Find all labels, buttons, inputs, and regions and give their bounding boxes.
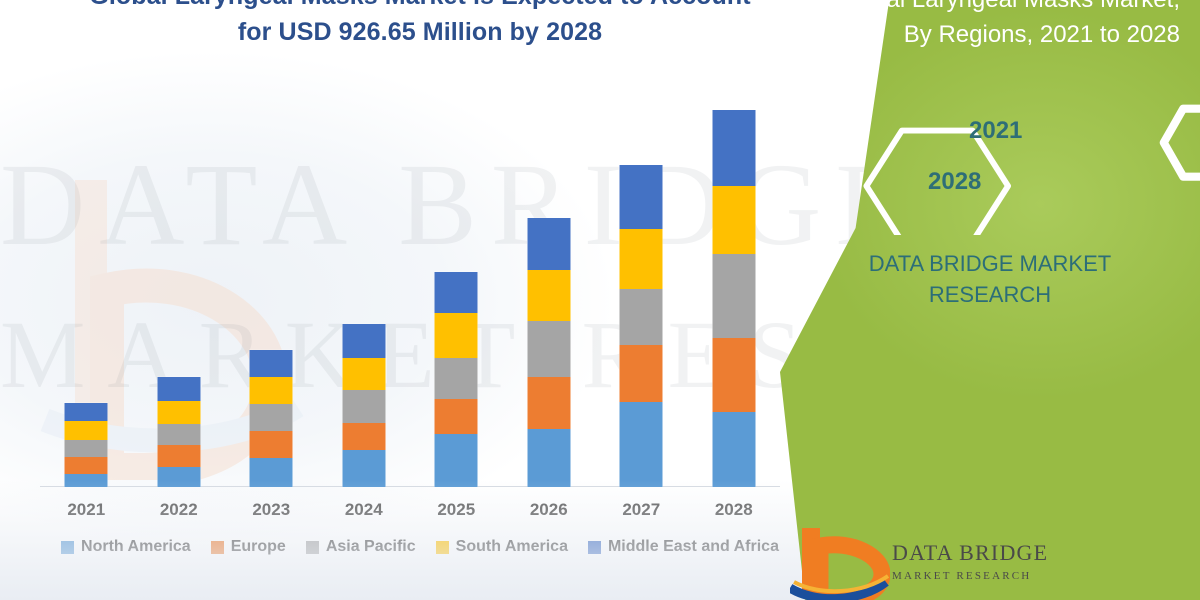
legend-item[interactable]: North America <box>61 538 191 556</box>
stacked-bar[interactable] <box>527 218 570 487</box>
bar-segment[interactable] <box>65 421 108 439</box>
bar-slot <box>410 100 503 487</box>
legend-label: South America <box>456 538 568 556</box>
x-tick-label: 2027 <box>595 500 688 520</box>
bar-segment[interactable] <box>250 431 293 458</box>
legend-label: North America <box>81 538 191 556</box>
stacked-bar[interactable] <box>712 110 755 487</box>
bar-segment[interactable] <box>620 345 663 402</box>
x-tick-label: 2022 <box>133 500 226 520</box>
bar-segment[interactable] <box>435 434 478 487</box>
bar-segment[interactable] <box>157 467 200 487</box>
bar-segment[interactable] <box>712 412 755 487</box>
bar-series-container <box>40 100 780 487</box>
bar-segment[interactable] <box>250 377 293 404</box>
brand-line-1: DATA BRIDGE MARKET <box>869 251 1111 276</box>
bar-segment[interactable] <box>527 321 570 377</box>
bar-segment[interactable] <box>712 110 755 186</box>
bar-slot <box>225 100 318 487</box>
bar-segment[interactable] <box>65 440 108 457</box>
chart-legend: North AmericaEuropeAsia PacificSouth Ame… <box>40 538 800 556</box>
bar-segment[interactable] <box>250 350 293 377</box>
bar-slot <box>595 100 688 487</box>
bar-segment[interactable] <box>342 423 385 451</box>
bar-segment[interactable] <box>250 458 293 487</box>
bar-segment[interactable] <box>712 254 755 338</box>
bar-slot <box>688 100 781 487</box>
stacked-bar[interactable] <box>65 403 108 487</box>
legend-swatch-icon <box>306 541 319 554</box>
bridge-logo-icon <box>790 526 890 600</box>
bar-segment[interactable] <box>435 358 478 399</box>
bar-segment[interactable] <box>527 377 570 429</box>
x-tick-label: 2021 <box>40 500 133 520</box>
company-logo: DATA BRIDGE MARKET RESEARCH <box>790 526 1190 600</box>
x-tick-label: 2026 <box>503 500 596 520</box>
legend-label: Asia Pacific <box>326 538 416 556</box>
bar-segment[interactable] <box>712 338 755 412</box>
legend-item[interactable]: South America <box>436 538 568 556</box>
bar-segment[interactable] <box>157 401 200 424</box>
bar-segment[interactable] <box>620 229 663 289</box>
plot-area <box>40 100 780 487</box>
bar-segment[interactable] <box>65 403 108 421</box>
brand-name: DATA BRIDGE MARKET RESEARCH <box>780 248 1200 310</box>
bar-segment[interactable] <box>157 377 200 401</box>
legend-swatch-icon <box>61 541 74 554</box>
x-tick-label: 2023 <box>225 500 318 520</box>
bar-segment[interactable] <box>342 324 385 358</box>
bar-segment[interactable] <box>342 450 385 487</box>
bar-segment[interactable] <box>620 289 663 345</box>
x-axis-tick-labels: 20212022202320242025202620272028 <box>40 500 780 520</box>
stacked-bar[interactable] <box>435 272 478 487</box>
infographic-root: DATA BRIDGE MARKET RESEARCH Global Laryn… <box>0 0 1200 600</box>
bar-segment[interactable] <box>712 186 755 254</box>
bar-segment[interactable] <box>65 474 108 487</box>
chart-subject-title: Global Laryngeal Masks Market, By Region… <box>820 0 1180 52</box>
bar-segment[interactable] <box>65 457 108 474</box>
legend-swatch-icon <box>588 541 601 554</box>
hex-label-2028: 2028 <box>928 168 981 196</box>
x-tick-label: 2024 <box>318 500 411 520</box>
brand-line-2: RESEARCH <box>929 282 1051 307</box>
bar-segment[interactable] <box>435 313 478 358</box>
legend-item[interactable]: Middle East and Africa <box>588 538 779 556</box>
x-tick-label: 2028 <box>688 500 781 520</box>
legend-swatch-icon <box>436 541 449 554</box>
legend-item[interactable]: Europe <box>211 538 286 556</box>
legend-label: Middle East and Africa <box>608 538 779 556</box>
stacked-bar[interactable] <box>620 165 663 488</box>
bar-segment[interactable] <box>157 445 200 467</box>
bar-segment[interactable] <box>620 165 663 230</box>
bar-segment[interactable] <box>435 272 478 313</box>
stacked-bar[interactable] <box>157 377 200 487</box>
bar-segment[interactable] <box>157 424 200 446</box>
branding-panel: Global Laryngeal Masks Market, By Region… <box>780 0 1200 600</box>
legend-label: Europe <box>231 538 286 556</box>
logo-subtitle: MARKET RESEARCH <box>892 570 1031 582</box>
bar-segment[interactable] <box>527 270 570 322</box>
bar-segment[interactable] <box>620 402 663 487</box>
bar-segment[interactable] <box>435 399 478 434</box>
hexagon-outline-icon <box>780 85 1200 235</box>
bar-segment[interactable] <box>527 218 570 270</box>
legend-swatch-icon <box>211 541 224 554</box>
hex-label-2021: 2021 <box>969 117 1022 145</box>
chart-panel: DATA BRIDGE MARKET RESEARCH Global Laryn… <box>0 0 900 600</box>
bar-slot <box>318 100 411 487</box>
stacked-bar[interactable] <box>250 350 293 487</box>
bar-segment[interactable] <box>342 390 385 422</box>
bar-segment[interactable] <box>527 429 570 487</box>
stacked-bar[interactable] <box>342 324 385 487</box>
legend-item[interactable]: Asia Pacific <box>306 538 416 556</box>
hexagon-badges: 2028 2021 <box>780 85 1200 235</box>
bar-slot <box>40 100 133 487</box>
logo-title: DATA BRIDGE <box>892 540 1048 566</box>
bar-segment[interactable] <box>250 404 293 431</box>
bar-segment[interactable] <box>342 358 385 390</box>
bar-slot <box>133 100 226 487</box>
page-title: Global Laryngeal Masks Market is Expecte… <box>70 0 770 50</box>
bar-slot <box>503 100 596 487</box>
x-tick-label: 2025 <box>410 500 503 520</box>
